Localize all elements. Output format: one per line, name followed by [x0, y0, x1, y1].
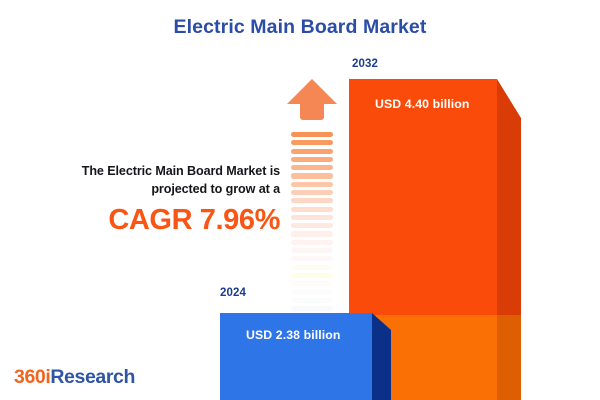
arrow-shaft-rung	[291, 165, 333, 170]
arrow-shaft-rung	[291, 306, 333, 311]
arrow-shaft-rung	[291, 215, 333, 220]
arrow-shaft-rung	[291, 182, 333, 187]
arrow-shaft-rung	[291, 132, 333, 137]
bar-2024-face	[220, 313, 372, 400]
up-arrow-icon	[286, 78, 338, 296]
bar-2024-year-label: 2024	[220, 287, 246, 299]
bar-2032-value-label: USD 4.40 billion	[375, 97, 470, 111]
arrow-shaft-rung	[291, 207, 333, 212]
arrow-shaft-rung	[291, 248, 333, 253]
logo-word: Research	[50, 366, 135, 388]
logo-number: 360	[14, 366, 45, 388]
bar-2032-year-label: 2032	[352, 58, 378, 70]
cagr-statement-line-2: projected to grow at a	[151, 182, 280, 196]
arrow-shaft-rung	[291, 223, 333, 228]
bar-2032-side-lower	[497, 315, 521, 400]
arrow-shaft-rung	[291, 173, 333, 178]
arrow-shaft-rung	[291, 240, 333, 245]
cagr-statement-line-1: The Electric Main Board Market is	[82, 164, 280, 178]
arrow-shaft-rung	[291, 231, 333, 236]
brand-logo[interactable]: 360iResearch	[14, 366, 135, 389]
cagr-value: CAGR 7.96%	[18, 205, 280, 237]
arrow-shaft-rung	[291, 198, 333, 203]
arrow-shaft-rung	[291, 265, 333, 270]
cagr-statement: The Electric Main Board Market is projec…	[18, 163, 280, 199]
arrow-shaft-rung	[291, 256, 333, 261]
bar-2032-side-upper	[497, 79, 521, 315]
arrow-head-icon	[286, 78, 338, 130]
arrow-shaft-rung	[291, 157, 333, 162]
arrow-shaft-rung	[291, 298, 333, 303]
infographic-canvas: Electric Main Board Market The Electric …	[0, 0, 600, 400]
arrow-shaft-rung	[291, 190, 333, 195]
bar-2024-value-label: USD 2.38 billion	[246, 328, 341, 342]
cagr-callout: The Electric Main Board Market is projec…	[18, 163, 280, 237]
arrow-shaft-rung	[291, 273, 333, 278]
arrow-shaft-rung	[291, 289, 333, 294]
arrow-shaft-rung	[291, 140, 333, 145]
arrow-shaft-rung	[291, 281, 333, 286]
arrow-shaft	[291, 132, 333, 311]
arrow-shaft-rung	[291, 149, 333, 154]
page-title: Electric Main Board Market	[0, 16, 600, 39]
bar-2032-face-upper	[349, 79, 497, 315]
